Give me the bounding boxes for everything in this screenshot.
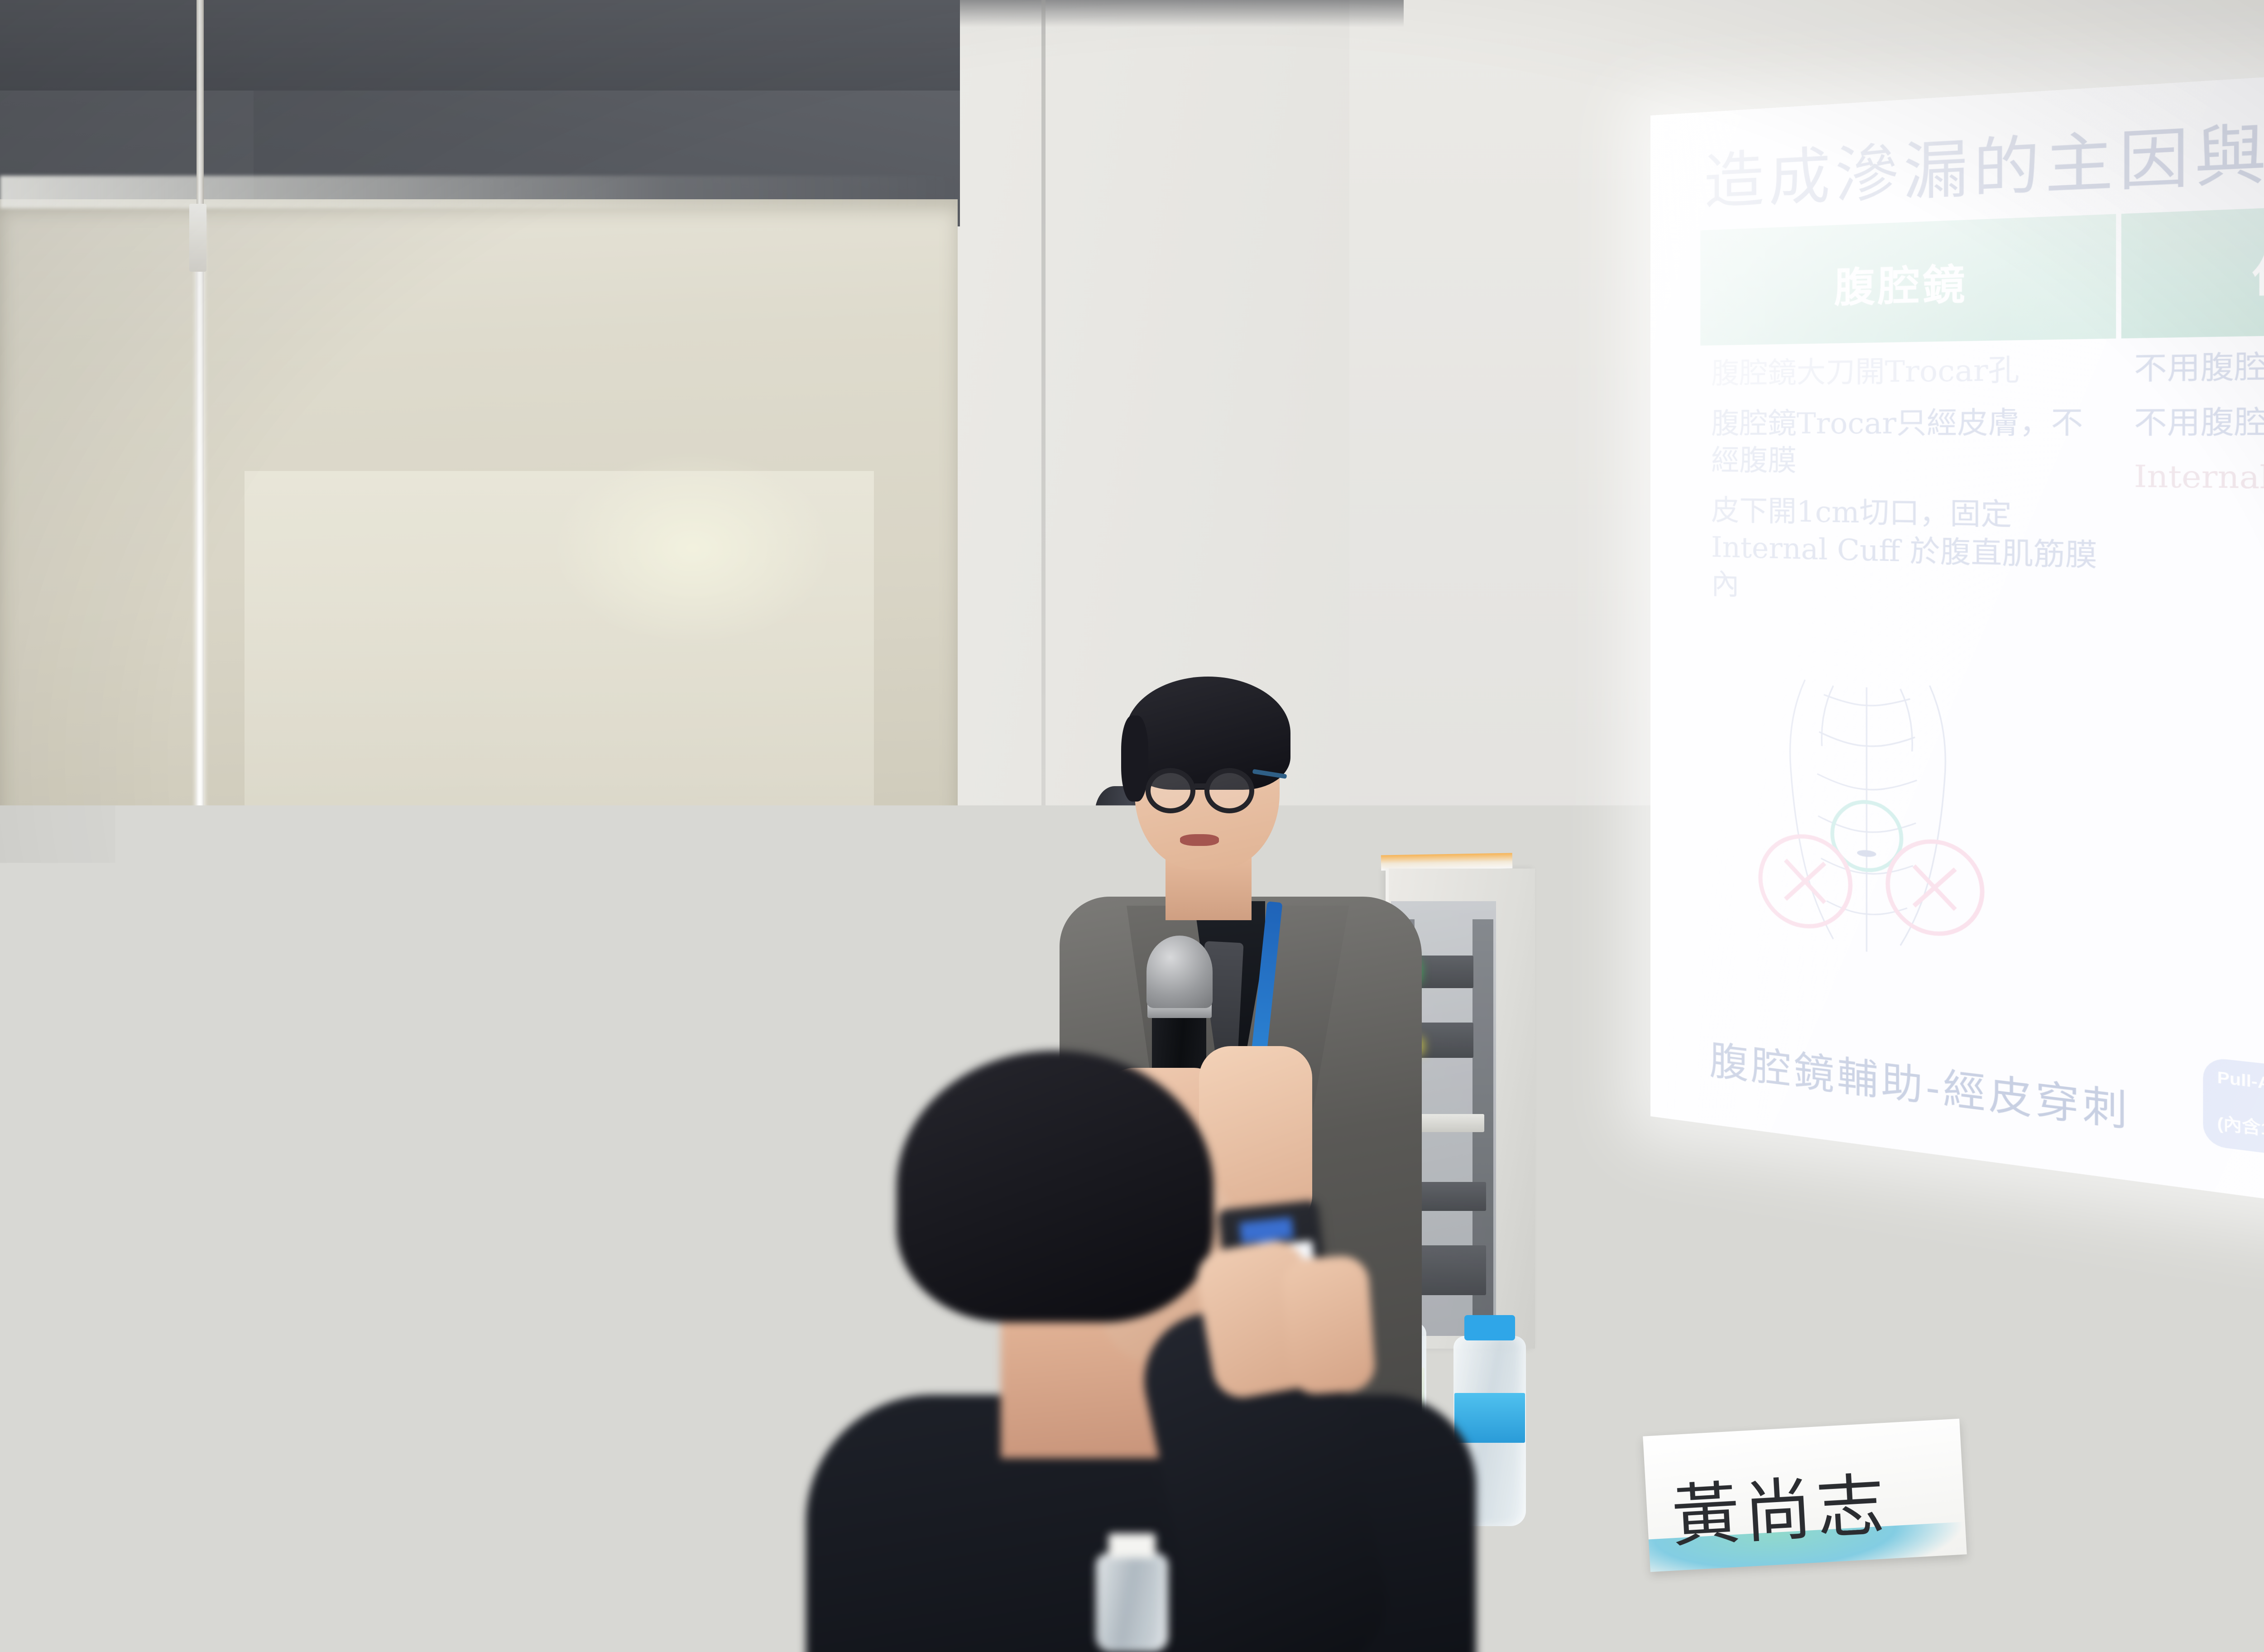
- slide-title: 造成滲漏的主因與解決: [1704, 91, 2264, 221]
- foreground-water-bottle-center[interactable]: [1096, 1553, 1168, 1652]
- blind-valance: [0, 0, 960, 91]
- window-roller-shade[interactable]: [0, 199, 958, 1019]
- table-header-cell-traditional: 傳統內科: [2121, 194, 2264, 338]
- audience-member-a: [172, 1069, 625, 1652]
- presenter-glasses-left-lens: [1146, 768, 1195, 813]
- audience-c-hand-right: [1281, 1254, 1377, 1396]
- table-body: 腹腔鏡大刀開Trocar孔 腹腔鏡Trocar只經皮膚，不經腹膜 皮下開1cm切…: [1700, 336, 2264, 647]
- projection-screen: 造成滲漏的主因與解決 腹腔鏡 傳統內科 腹腔鏡大刀開Trocar孔 腹腔鏡Tro…: [1650, 54, 2264, 1247]
- blind-light-streak: [0, 176, 959, 208]
- blind-cord-clip[interactable]: [189, 204, 206, 272]
- audience-d-hair: [1789, 1123, 2115, 1467]
- audience-e-hair: [2119, 1223, 2264, 1540]
- table-cell: 腹腔鏡大刀開Trocar孔: [1711, 350, 2103, 393]
- shade-light-glow: [557, 453, 829, 643]
- presenter-mouth: [1180, 834, 1219, 846]
- microphone-grille: [1146, 936, 1213, 1008]
- abdomen-anatomy-diagram: [1736, 663, 2004, 994]
- bottle-cap: [446, 1475, 491, 1499]
- bottle-cap: [1108, 1533, 1156, 1558]
- slide-comparison-table: 腹腔鏡 傳統內科 腹腔鏡大刀開Trocar孔 腹腔鏡Trocar只經皮膚，不經腹…: [1700, 194, 2264, 647]
- blind-cord-highlight: [192, 213, 208, 1019]
- conference-room-photo: 造成滲漏的主因與解決 腹腔鏡 傳統內科 腹腔鏡大刀開Trocar孔 腹腔鏡Tro…: [0, 0, 2264, 1652]
- table-column-traditional: 不用腹腔鏡 不用腹腔鏡 Internal Cuff 腹直肌內: [2121, 336, 2264, 647]
- table-cell: 皮下開1cm切口，固定Internal Cuff 於腹直肌筋膜內: [1711, 492, 2103, 615]
- audience-member-e: [2092, 1223, 2264, 1652]
- table-cell: 不用腹腔鏡: [2134, 400, 2264, 444]
- slide-product-badge: Pull-Apart Introducer S 剝離式鑑皮插管‧定組 (內含18…: [2203, 1057, 2264, 1204]
- audience-a-ear: [308, 1205, 351, 1261]
- slide-caption: 腹腔鏡輔助-經皮穿刺: [1709, 1028, 2130, 1138]
- badge-line-3: (內含18G穿針、Guidewire、Pee: [2217, 1112, 2264, 1189]
- foreground-water-bottle-left[interactable]: [435, 1494, 503, 1652]
- bottle-label: [436, 1570, 501, 1652]
- table-cell: Internal Cuff 腹直肌內: [2134, 457, 2264, 502]
- audience-c-hair: [897, 1051, 1214, 1322]
- audience-c-phone-content-top: [1239, 1217, 1294, 1244]
- presenter-glasses-bridge: [1194, 783, 1207, 788]
- wall-seam: [1041, 0, 1046, 1177]
- table-header-cell-laparoscopy: 腹腔鏡: [1700, 214, 2116, 346]
- audience-b-hand: [656, 1153, 773, 1302]
- presenter-glasses-right-lens: [1204, 768, 1254, 813]
- table-column-laparoscopy: 腹腔鏡大刀開Trocar孔 腹腔鏡Trocar只經皮膚，不經腹膜 皮下開1cm切…: [1700, 345, 2116, 630]
- presenter-hair-side: [1121, 716, 1148, 802]
- table-cell: 不用腹腔鏡: [2134, 342, 2264, 389]
- table-cell: 腹腔鏡Trocar只經皮膚，不經腹膜: [1711, 403, 2103, 483]
